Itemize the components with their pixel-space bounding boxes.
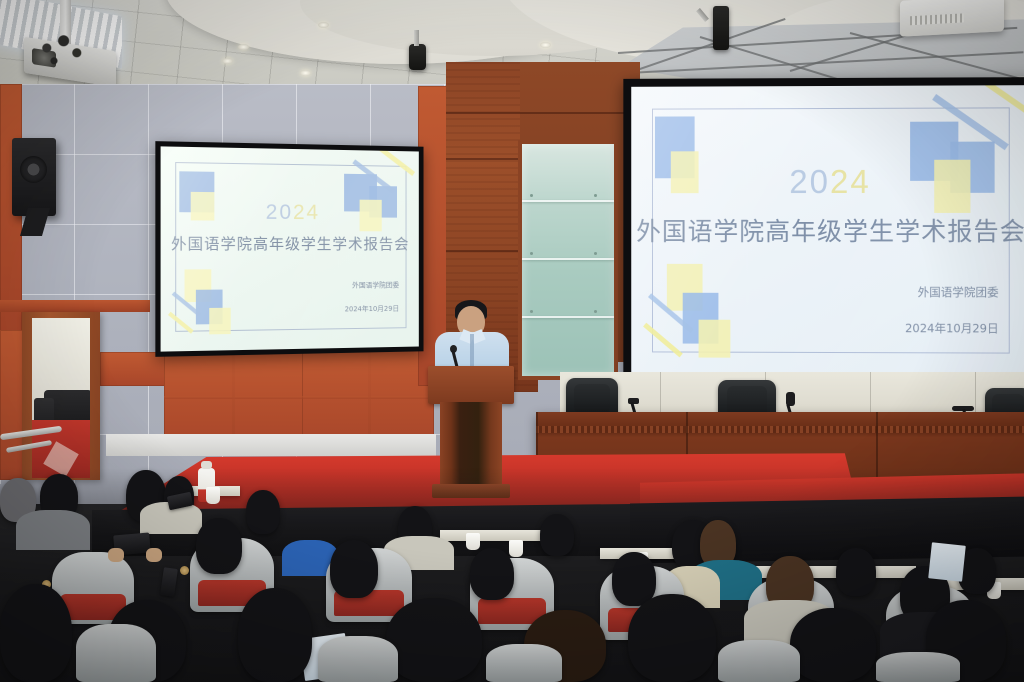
glass-fitting [594,252,597,255]
downlight-icon [222,58,233,64]
accent-seam [368,348,371,446]
audience-head [470,548,514,600]
audience-head [790,608,876,682]
glass-fitting [594,194,597,197]
projector-vent [910,13,964,25]
podium-top [428,366,514,404]
slide-year-suffix: 24 [830,163,871,200]
wood-seam [446,250,521,252]
downlight-icon [318,22,329,28]
audience-head [330,540,378,598]
audience-head [540,514,574,556]
projector-cables [36,32,96,72]
wood-seam [446,112,640,114]
downlight-icon [300,70,311,76]
loudspeaker-icon [12,138,56,216]
slide-content-right: 2024 外国语学院高年级学生学术报告会 外国语学院团委 2024年10月29日 [631,85,1024,383]
slide-title: 外国语学院高年级学生学术报告会 [631,212,1024,248]
audience-head [246,490,280,534]
audience-head [0,584,72,682]
stage-baseboard [106,434,436,456]
hand [108,548,124,562]
slide-organizer: 外国语学院团委 [918,284,999,300]
seat-knob [180,566,189,575]
audience-head [628,594,716,682]
wood-seam [446,158,521,160]
frosted-glass-door[interactable] [518,140,618,380]
accent-seam [164,396,434,399]
glass-fitting [530,252,533,255]
projector-icon [900,0,1004,37]
slide-year-prefix: 20 [789,163,830,200]
table-molding [536,426,1024,433]
auditorium-seat[interactable] [76,624,156,682]
auditorium-seat[interactable] [876,652,960,682]
glass-fitting [530,310,533,313]
spotlight-icon [409,44,426,70]
auditorium-seat[interactable] [318,636,398,682]
slide-year-prefix: 20 [266,201,293,224]
accent-seam [232,350,235,446]
hand [146,548,162,562]
slide-title: 外国语学院高年级学生学术报告会 [161,233,419,255]
glass-seam [522,316,614,318]
accent-panel [0,330,24,480]
accent-panel [100,352,172,386]
cup [509,540,523,557]
cup [206,487,220,504]
slide-year: 2024 [631,163,1024,202]
slide-decor-square [209,308,230,335]
audience-head [238,588,312,682]
spotlight-arm [414,30,419,46]
accent-strip [0,300,150,312]
cup [466,533,480,550]
glass-seam [522,200,614,202]
slide-year: 2024 [161,200,419,226]
audience-head [386,598,482,682]
desk-ledge [736,566,916,578]
slide-content-left: 2024 外国语学院高年级学生学术报告会 外国语学院团委 2024年10月29日 [161,146,419,351]
chair-backrest [574,384,609,414]
open-door[interactable] [32,318,90,478]
slide-organizer: 外国语学院团委 [352,280,399,290]
slide-date: 2024年10月29日 [905,320,999,336]
bottle-cap [201,461,212,469]
auditorium-seat[interactable] [486,644,562,682]
speaker-cone [20,156,47,183]
downlight-icon [540,42,551,48]
audience-head [836,548,876,596]
auditorium-photo: 2024 外国语学院高年级学生学术报告会 外国语学院团委 2024年10月29日 [0,0,1024,682]
secondary-projection-screen[interactable]: 2024 外国语学院高年级学生学术报告会 外国语学院团委 2024年10月29日 [155,141,423,357]
audience-head [196,518,242,574]
slide-date: 2024年10月29日 [345,304,399,315]
audience-shoulders [16,510,90,550]
slide-decor-square [699,320,731,358]
glass-fitting [594,310,597,313]
glass-fitting [530,194,533,197]
downlight-icon [238,44,249,50]
paper-handout[interactable] [928,542,966,581]
glass-seam [522,258,614,260]
auditorium-seat[interactable] [718,640,800,682]
spotlight-icon [713,6,729,50]
main-projection-screen[interactable]: 2024 外国语学院高年级学生学术报告会 外国语学院团委 2024年10月29日 [623,77,1024,391]
slide-year-suffix: 24 [293,201,320,224]
audience-head [612,552,656,606]
